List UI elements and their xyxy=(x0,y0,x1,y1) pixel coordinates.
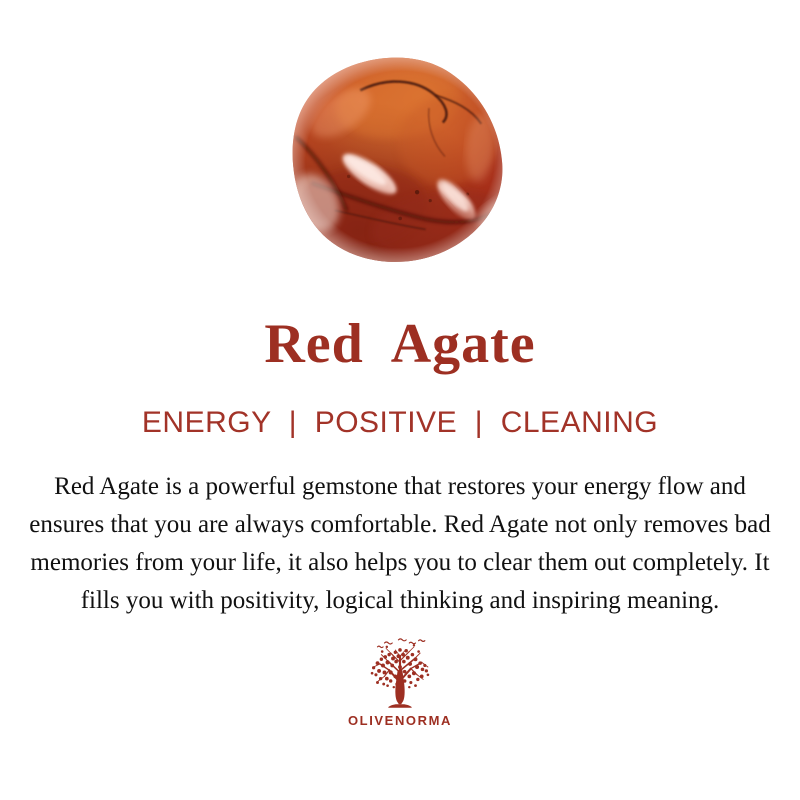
tree-of-life-icon xyxy=(361,636,439,712)
brand-name: OLIVENORMA xyxy=(348,713,452,728)
brand-logo: OLIVENORMA xyxy=(348,636,452,728)
gemstone-image xyxy=(273,38,527,279)
product-info-card: Red Agate ENERGY | POSITIVE | CLEANING R… xyxy=(0,0,800,800)
keyword-subtitle: ENERGY | POSITIVE | CLEANING xyxy=(142,408,658,438)
product-description: Red Agate is a powerful gemstone that re… xyxy=(20,468,780,620)
gemstone-image-area xyxy=(0,0,800,310)
red-agate-stone-illustration xyxy=(273,38,527,279)
page-title: Red Agate xyxy=(264,316,535,372)
